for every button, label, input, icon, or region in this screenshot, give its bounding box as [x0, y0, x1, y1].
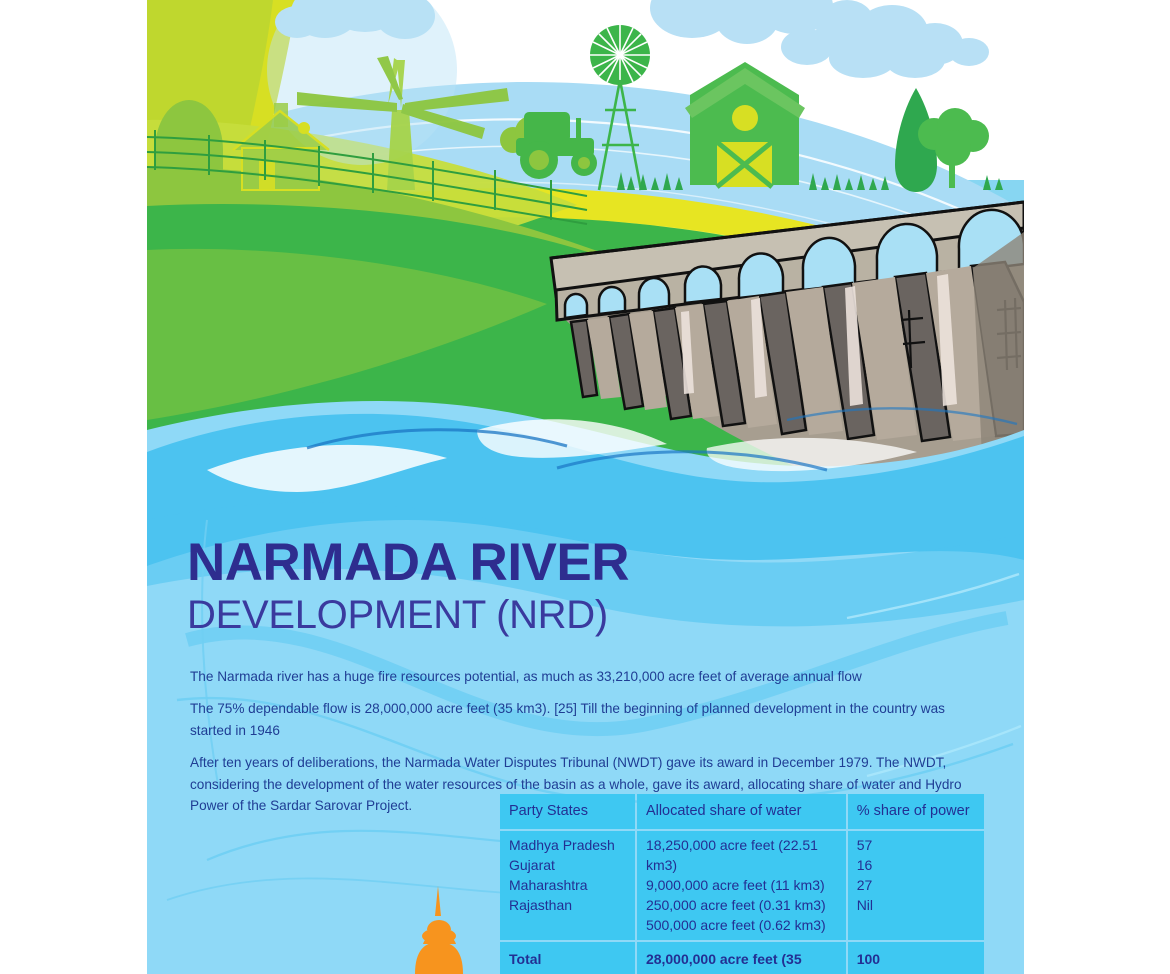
- infographic-poster: NARMADA RIVER DEVELOPMENT (NRD) The Narm…: [0, 0, 1170, 974]
- page-subtitle: DEVELOPMENT (NRD): [187, 589, 1007, 638]
- title-block: NARMADA RIVER DEVELOPMENT (NRD): [187, 536, 1007, 638]
- power-value: 16: [857, 856, 975, 876]
- barn-icon: [685, 62, 805, 187]
- state-name: Maharashtra: [509, 876, 626, 896]
- column-header-allocated-water: Allocated share of water: [637, 794, 846, 829]
- total-label: Total: [500, 942, 635, 974]
- allocation-table-wrap: Party States Allocated share of water % …: [498, 792, 988, 974]
- artwork-panel: NARMADA RIVER DEVELOPMENT (NRD) The Narm…: [147, 0, 1024, 974]
- total-power: 100: [848, 942, 984, 974]
- state-names-cell: Madhya Pradesh Gujarat Maharashtra Rajas…: [500, 831, 635, 940]
- state-name: Gujarat: [509, 856, 626, 876]
- state-name: Rajasthan: [509, 896, 626, 916]
- total-water: 28,000,000 acre feet (35 km3): [637, 942, 846, 974]
- table-header-row: Party States Allocated share of water % …: [500, 794, 984, 829]
- state-name: Madhya Pradesh: [509, 836, 626, 856]
- paragraph-1: The Narmada river has a huge fire resour…: [190, 666, 990, 687]
- page-title: NARMADA RIVER: [187, 536, 1007, 589]
- power-values-cell: 57 16 27 Nil: [848, 831, 984, 940]
- water-values-cell: 18,250,000 acre feet (22.51 km3) 9,000,0…: [637, 831, 846, 940]
- bush-icon: [155, 100, 223, 200]
- paragraph-2: The 75% dependable flow is 28,000,000 ac…: [190, 698, 990, 741]
- power-value: 27: [857, 876, 975, 896]
- water-value: 9,000,000 acre feet (11 km3): [646, 876, 837, 896]
- power-value: 57: [857, 836, 975, 856]
- water-value: 250,000 acre feet (0.31 km3): [646, 896, 837, 916]
- table-total-row: Total 28,000,000 acre feet (35 km3) 100: [500, 942, 984, 974]
- allocation-table: Party States Allocated share of water % …: [498, 792, 986, 974]
- column-header-party-states: Party States: [500, 794, 635, 829]
- water-value: 500,000 acre feet (0.62 km3): [646, 916, 837, 936]
- column-header-power-share: % share of power: [848, 794, 984, 829]
- power-value: Nil: [857, 896, 975, 916]
- table-row: Madhya Pradesh Gujarat Maharashtra Rajas…: [500, 831, 984, 940]
- water-value: 18,250,000 acre feet (22.51 km3): [646, 836, 837, 876]
